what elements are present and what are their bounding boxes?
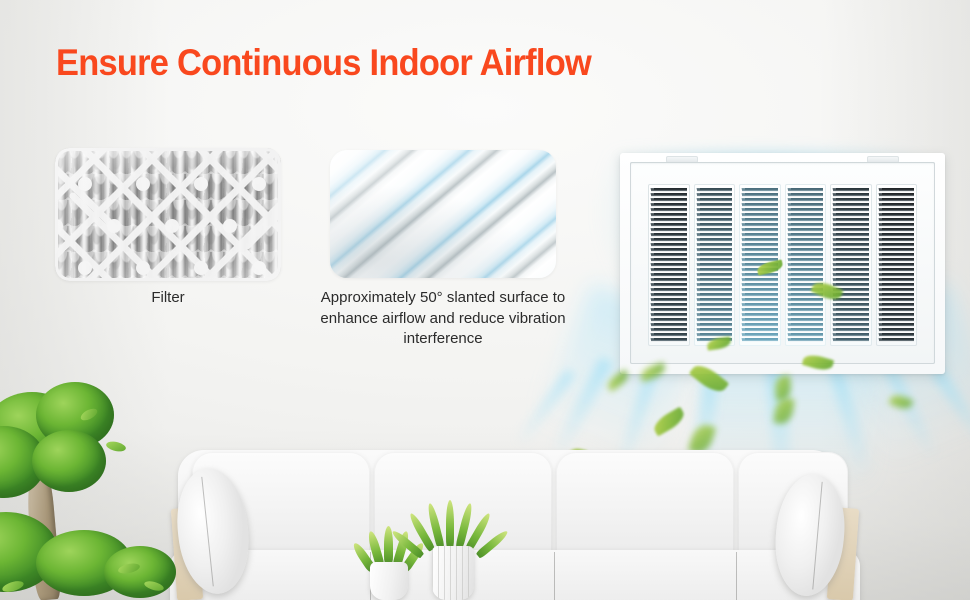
bolster-seam <box>812 482 822 589</box>
vent-louver-column <box>876 184 918 346</box>
succulent-pot <box>370 562 408 600</box>
page-title: Ensure Continuous Indoor Airflow <box>56 44 591 83</box>
vent-slats <box>651 188 687 342</box>
vent-louver-column <box>694 184 736 346</box>
filter-image <box>55 148 281 281</box>
sofa <box>150 432 870 600</box>
bolster-seam <box>202 476 215 586</box>
bonsai-leaf <box>105 440 127 454</box>
promo-image-stage: Ensure Continuous Indoor Airflow <box>0 0 970 600</box>
filter-caption: Filter <box>55 288 281 309</box>
succulent-leaf <box>446 500 454 548</box>
slanted-surface-image <box>330 150 556 278</box>
vent-column-notches <box>878 188 882 342</box>
vent-slats <box>697 188 733 342</box>
sofa-seat <box>170 550 860 600</box>
filter-lattice-grid <box>55 148 281 281</box>
vent-slats <box>833 188 869 342</box>
vent-louver-column <box>785 184 827 346</box>
slant-caption: Approximately 50° slanted surface to enh… <box>296 288 590 350</box>
vent-column-notches <box>832 188 836 342</box>
vent-column-notches <box>696 188 700 342</box>
vent-louver-column <box>648 184 690 346</box>
vent-column-notches <box>650 188 654 342</box>
bonsai-foliage <box>104 546 176 598</box>
vent-slats <box>879 188 915 342</box>
succulent-vase <box>432 546 474 600</box>
sofa-seat-seam <box>554 552 555 600</box>
bonsai-foliage <box>32 430 106 492</box>
slanted-shading <box>330 150 556 278</box>
small-succulent-plant <box>358 520 418 600</box>
vase-ribs <box>432 546 474 600</box>
bonsai-plant <box>0 386 174 600</box>
vent-slats <box>788 188 824 342</box>
vent-column-notches <box>741 188 745 342</box>
sofa-seat-seam <box>736 552 737 600</box>
vent-column-notches <box>787 188 791 342</box>
tall-succulent-plant <box>412 500 490 600</box>
vent-louver-column <box>830 184 872 346</box>
